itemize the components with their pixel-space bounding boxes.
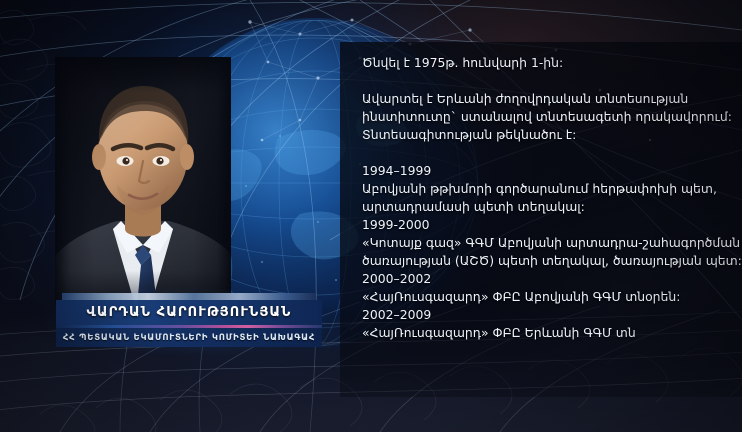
person-title: ՀՀ ՊԵՏԱԿԱՆ ԵԿԱՄՈՒՏՆԵՐԻ ԿՈՄԻՏԵԻ ՆԱԽԱԳԱՀ <box>63 333 315 343</box>
bio-line: «Կոտայք գազ» ԳԳՄ Աբովյանի արտադրա-շահագո… <box>362 234 730 252</box>
broadcast-graphic-frame: ՎԱՐԴԱՆ ՀԱՐՈՒԹՅՈՒՆՅԱՆ ՀՀ ՊԵՏԱԿԱՆ ԵԿԱՄՈՒՏՆ… <box>0 0 742 432</box>
bio-spacer <box>362 144 730 162</box>
bio-line: Ավարտել է Երևանի ժողովրդական տնտեսության <box>362 90 730 108</box>
banner-title-bar: ՀՀ ՊԵՏԱԿԱՆ ԵԿԱՄՈՒՏՆԵՐԻ ԿՈՄԻՏԵԻ ՆԱԽԱԳԱՀ <box>56 328 322 347</box>
banner-name-bar: ՎԱՐԴԱՆ ՀԱՐՈՒԹՅՈՒՆՅԱՆ <box>56 300 322 325</box>
bio-line: Տնտեսագիտության թեկնածու է: <box>362 126 730 144</box>
bio-text-block: Ծնվել է 1975թ. հունվարի 1-ին:Ավարտել է Ե… <box>362 54 730 342</box>
banner-top-strip <box>62 293 316 300</box>
bio-line: 2002–2009 <box>362 306 730 324</box>
bio-spacer <box>362 72 730 90</box>
person-name: ՎԱՐԴԱՆ ՀԱՐՈՒԹՅՈՒՆՅԱՆ <box>87 305 292 320</box>
bio-line: 1999-2000 <box>362 216 730 234</box>
bio-line: Ծնվել է 1975թ. հունվարի 1-ին: <box>362 54 730 72</box>
lower-third-banner: ՎԱՐԴԱՆ ՀԱՐՈՒԹՅՈՒՆՅԱՆ ՀՀ ՊԵՏԱԿԱՆ ԵԿԱՄՈՒՏՆ… <box>56 293 322 347</box>
bio-panel: Ծնվել է 1975թ. հունվարի 1-ին:Ավարտել է Ե… <box>340 42 742 397</box>
bio-line: ծառայության (ԱՇԾ) պետի տեղակալ, ծառայութ… <box>362 252 730 270</box>
bio-line: ինստիտուտը` ստանալով տնտեսագետի որակավոր… <box>362 108 730 126</box>
bio-line: «ՀայՌուսգազարդ» ՓԲԸ Աբովյանի ԳԳՄ տնօրեն: <box>362 288 730 306</box>
portrait-photo <box>55 57 231 305</box>
bio-line: Աբովյանի թթխմորի գործարանում հերթափոխի պ… <box>362 180 730 198</box>
bio-line: արտադրամասի պետի տեղակալ: <box>362 198 730 216</box>
bio-line: «ՀայՌուսգազարդ» ՓԲԸ Երևանի ԳԳՄ տն <box>362 324 730 342</box>
portrait-illustration <box>55 57 231 305</box>
bio-line: 2000–2002 <box>362 270 730 288</box>
bio-line: 1994–1999 <box>362 162 730 180</box>
